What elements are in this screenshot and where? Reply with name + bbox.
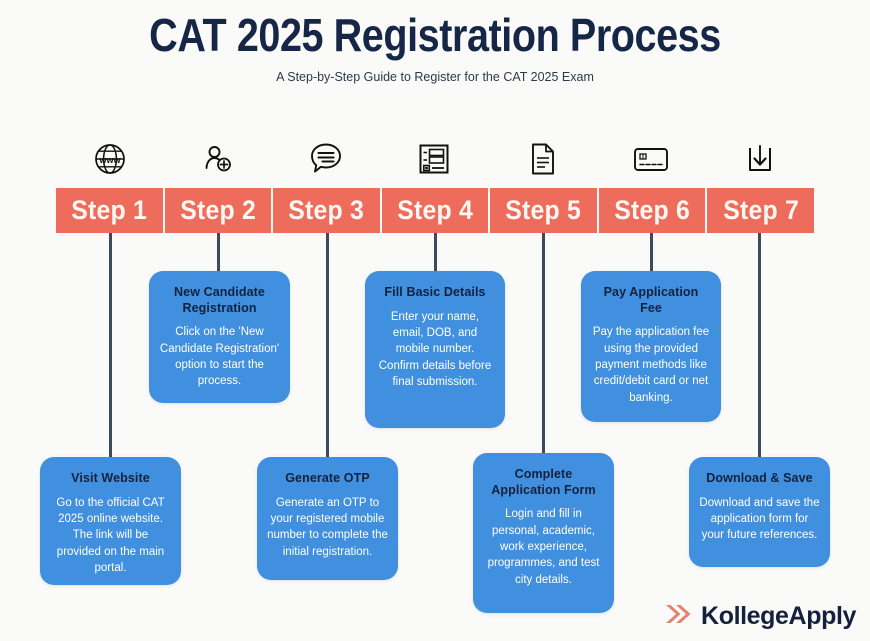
step-card-5[interactable]: Complete Application Form Login and fill…	[473, 453, 614, 613]
credit-card-icon	[597, 136, 705, 182]
step-icon-row: www	[56, 136, 814, 182]
step-card-title: Generate OTP	[267, 471, 388, 487]
connector-step-7	[758, 233, 761, 461]
step-label-6[interactable]: Step 6	[599, 188, 708, 233]
step-card-title: Fill Basic Details	[375, 285, 495, 301]
connector-step-3	[326, 233, 329, 461]
step-label-text: Step 3	[289, 195, 365, 226]
step-card-body: Click on the 'New Candidate Registration…	[159, 324, 280, 389]
connector-step-5	[542, 233, 545, 455]
step-card-title: New Candidate Registration	[159, 285, 280, 316]
step-label-4[interactable]: Step 4	[382, 188, 491, 233]
step-label-text: Step 1	[71, 195, 147, 226]
page-subtitle: A Step-by-Step Guide to Register for the…	[0, 70, 870, 84]
step-label-2[interactable]: Step 2	[165, 188, 274, 233]
step-label-7[interactable]: Step 7	[707, 188, 814, 233]
connector-step-1	[109, 233, 112, 461]
step-label-text: Step 6	[614, 195, 690, 226]
step-label-5[interactable]: Step 5	[490, 188, 599, 233]
step-label-text: Step 4	[397, 195, 473, 226]
step-card-title: Download & Save	[699, 471, 820, 487]
step-card-body: Download and save the application form f…	[699, 495, 820, 544]
svg-text:www: www	[98, 155, 121, 165]
download-icon	[706, 136, 814, 182]
step-bar: Step 1 Step 2 Step 3 Step 4 Step 5 Step …	[56, 188, 814, 233]
step-card-title: Pay Application Fee	[591, 285, 711, 316]
page-title: CAT 2025 Registration Process	[61, 8, 809, 62]
step-label-text: Step 2	[180, 195, 256, 226]
step-card-1[interactable]: Visit Website Go to the official CAT 202…	[40, 457, 181, 585]
step-card-title: Complete Application Form	[483, 467, 604, 498]
step-label-text: Step 5	[506, 195, 582, 226]
step-card-7[interactable]: Download & Save Download and save the ap…	[689, 457, 830, 567]
step-card-body: Enter your name, email, DOB, and mobile …	[375, 309, 495, 391]
step-card-title: Visit Website	[50, 471, 171, 487]
connector-step-2	[217, 233, 220, 273]
connector-step-6	[650, 233, 653, 273]
double-chevron-icon	[664, 600, 694, 633]
globe-www-icon: www	[56, 136, 164, 182]
step-card-body: Go to the official CAT 2025 online websi…	[50, 495, 171, 577]
step-card-4[interactable]: Fill Basic Details Enter your name, emai…	[365, 271, 505, 428]
connector-step-4	[434, 233, 437, 273]
infographic-canvas: CAT 2025 Registration Process A Step-by-…	[0, 0, 870, 641]
step-card-body: Login and fill in personal, academic, wo…	[483, 506, 604, 588]
step-card-3[interactable]: Generate OTP Generate an OTP to your reg…	[257, 457, 398, 580]
add-user-icon	[164, 136, 272, 182]
chat-bubble-icon	[272, 136, 380, 182]
logo-text: KollegeApply	[701, 602, 856, 631]
step-label-text: Step 7	[723, 195, 799, 226]
step-label-3[interactable]: Step 3	[273, 188, 382, 233]
form-fields-icon	[380, 136, 488, 182]
kollegeapply-logo[interactable]: KollegeApply	[664, 600, 856, 633]
step-label-1[interactable]: Step 1	[56, 188, 165, 233]
step-card-2[interactable]: New Candidate Registration Click on the …	[149, 271, 290, 403]
step-card-6[interactable]: Pay Application Fee Pay the application …	[581, 271, 721, 422]
document-icon	[489, 136, 597, 182]
step-card-body: Generate an OTP to your registered mobil…	[267, 495, 388, 560]
step-card-body: Pay the application fee using the provid…	[591, 324, 711, 406]
